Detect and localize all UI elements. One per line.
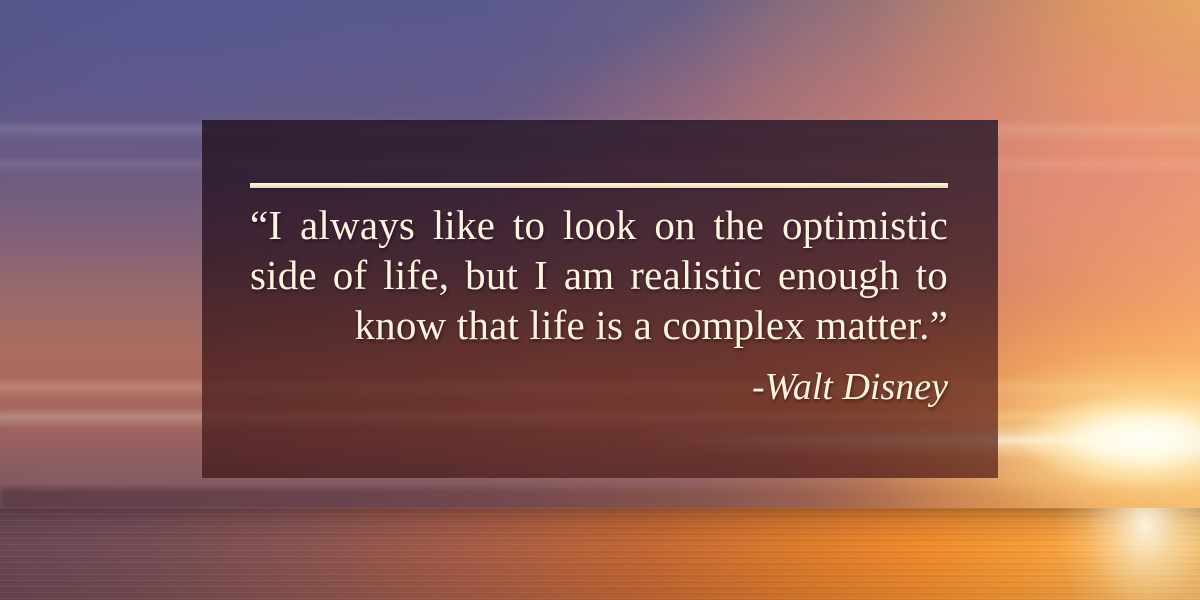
quote-word: to — [916, 250, 948, 300]
quote-line-2: side of life, but I am realistic enough … — [250, 250, 948, 300]
quote-line-1: “I always like to look on the optimistic — [250, 200, 948, 250]
quote-word: like — [433, 200, 495, 250]
quote-word: realistic — [630, 250, 762, 300]
quote-word: side — [250, 250, 317, 300]
quote-image-canvas: “I always like to look on the optimistic… — [0, 0, 1200, 600]
quote-word: always — [300, 200, 415, 250]
quote-word: “I — [250, 200, 282, 250]
quote-text-block: “I always like to look on the optimistic… — [250, 200, 948, 350]
quote-word: on — [654, 200, 695, 250]
quote-word: but — [465, 250, 518, 300]
quote-word: optimistic — [782, 200, 948, 250]
quote-line-3: know that life is a complex matter.” — [250, 300, 948, 350]
quote-word: look — [563, 200, 637, 250]
quote-word: of — [333, 250, 368, 300]
quote-word: am — [564, 250, 615, 300]
divider-rule — [250, 183, 948, 188]
quote-word: to — [513, 200, 545, 250]
quote-word: enough — [778, 250, 900, 300]
quote-word: I — [534, 250, 548, 300]
quote-attribution: -Walt Disney — [250, 364, 948, 410]
quote-word: life, — [383, 250, 449, 300]
horizon-band — [0, 488, 1200, 510]
quote-word: the — [714, 200, 765, 250]
sun-reflection-on-water — [0, 508, 1200, 600]
